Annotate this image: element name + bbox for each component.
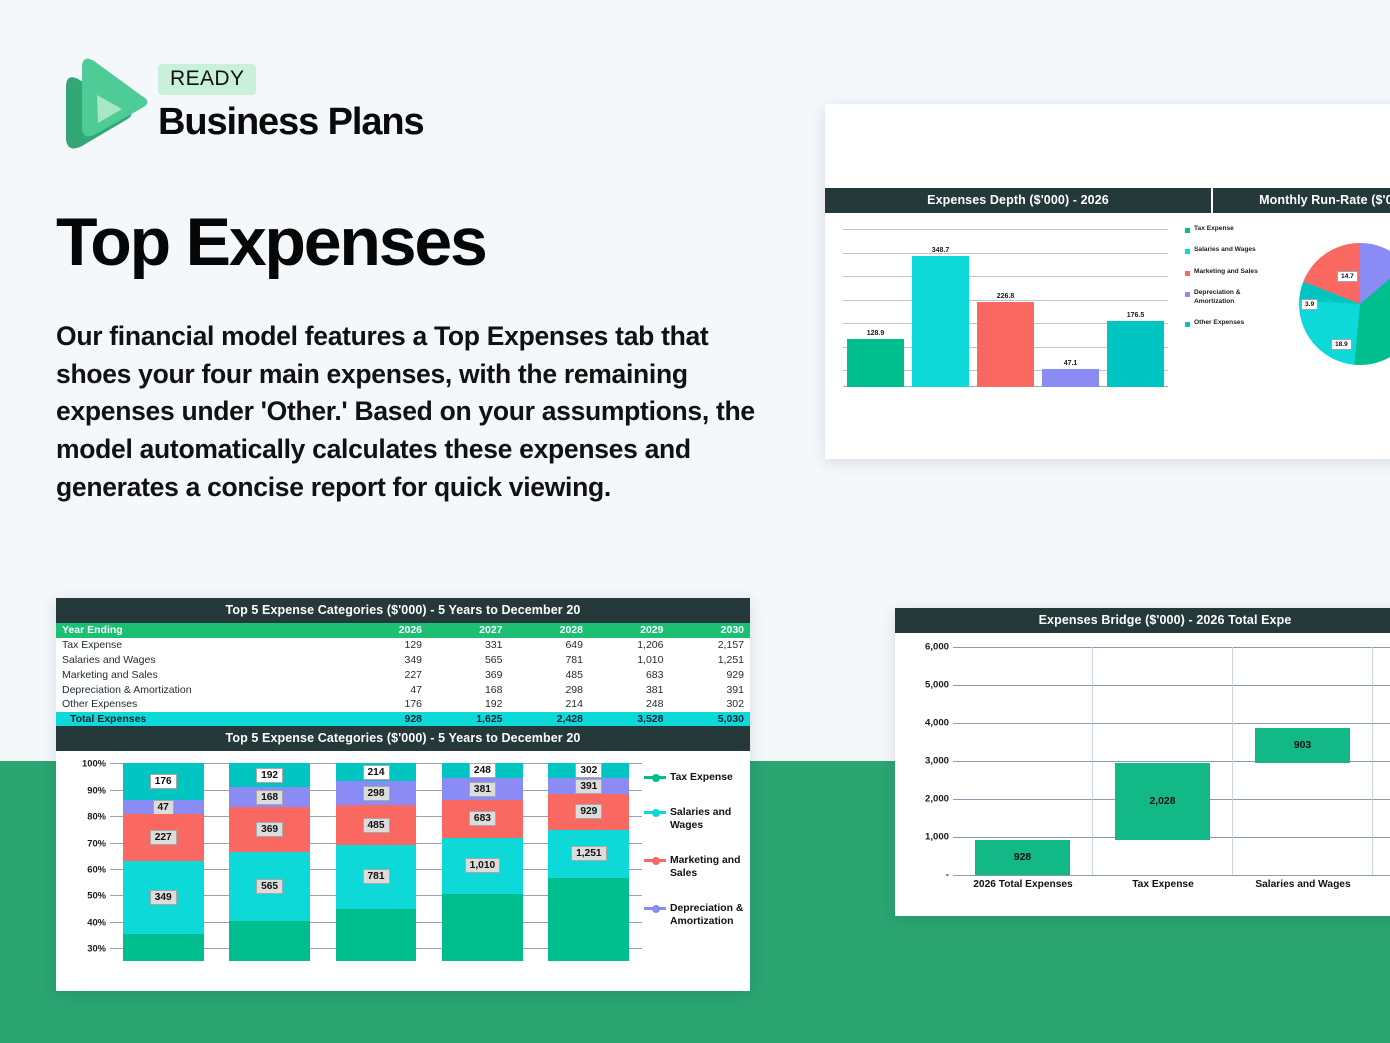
legend-line-marker-icon [644, 776, 666, 779]
top5-expense-table: Year Ending20262027202820292030 Tax Expe… [56, 623, 750, 726]
waterfall-value-label: 903 [1294, 740, 1311, 751]
expenses-depth-title: Expenses Depth ($'000) - 2026 [825, 188, 1211, 213]
table-cell: 176 [354, 697, 428, 712]
table-row: Other Expenses176192214248302 [56, 697, 750, 712]
y-axis-tick: 100% [82, 758, 106, 769]
stacked-column-inner: 2483816831,010 [442, 763, 523, 961]
stacked-column-inner: 192168369565 [229, 763, 310, 961]
stacked-column[interactable]: 17647227349 [110, 763, 216, 961]
segment-value-label: 565 [256, 879, 283, 894]
stacked-column-inner: 214298485781 [336, 763, 417, 961]
legend-label: Marketing and Sales [670, 854, 748, 880]
table-body: Tax Expense1293316491,2062,157Salaries a… [56, 638, 750, 727]
stacked-segment[interactable]: 227 [123, 814, 204, 862]
stacked-chart-y-axis: 100%90%80%70%60%50%40%30% [62, 763, 106, 961]
stacked-segment[interactable]: 683 [442, 800, 523, 838]
waterfall-columns: 9282,028903702 [953, 647, 1390, 875]
column-bar[interactable] [1042, 369, 1099, 387]
table-cell: 1,251 [669, 653, 750, 668]
pie-data-label: 18.9 [1331, 339, 1352, 350]
waterfall-column[interactable]: 928 [953, 647, 1093, 875]
legend-label: Marketing and Sales [1194, 268, 1258, 277]
waterfall-value-label: 2,028 [1149, 796, 1175, 807]
play-triangle-logo-icon [56, 54, 148, 154]
waterfall-column[interactable]: 2,028 [1093, 647, 1233, 875]
legend-swatch-icon [1185, 228, 1190, 233]
stacked-segment[interactable]: 369 [229, 807, 310, 852]
column-value-label: 348.7 [908, 247, 973, 254]
expenses-bridge-card: Expenses Bridge ($'000) - 2026 Total Exp… [895, 608, 1390, 916]
waterfall-x-label: Tax Expense [1093, 879, 1233, 890]
y-axis-tick: 5,000 [925, 680, 949, 691]
table-cell: 649 [509, 638, 589, 653]
y-axis-tick: 90% [87, 784, 106, 795]
page-title: Top Expenses [56, 203, 486, 281]
stacked-segment[interactable]: 381 [442, 778, 523, 799]
legend-item[interactable]: Other Expenses [1185, 319, 1277, 328]
ready-badge: READY [158, 64, 256, 95]
waterfall-bar[interactable]: 2,028 [1115, 763, 1210, 840]
stacked-segment[interactable] [442, 894, 523, 961]
y-axis-tick: 60% [87, 864, 106, 875]
stacked-chart-plot: 1764722734919216836956521429848578124838… [110, 763, 642, 961]
brand-logo[interactable]: READY Business Plans [56, 54, 424, 154]
legend-item[interactable]: Marketing and Sales [1185, 268, 1277, 277]
waterfall-x-labels: 2026 Total ExpensesTax ExpenseSalaries a… [953, 879, 1390, 890]
legend-swatch-icon [1185, 292, 1190, 297]
table-total-cell: 928 [354, 712, 428, 727]
table-total-cell: 2,428 [509, 712, 589, 727]
expenses-bridge-title: Expenses Bridge ($'000) - 2026 Total Exp… [895, 608, 1390, 633]
table-row-label: Depreciation & Amortization [56, 682, 354, 697]
segment-value-label: 227 [150, 830, 177, 845]
table-total-cell: 5,030 [669, 712, 750, 727]
table-cell: 349 [354, 653, 428, 668]
waterfall-plot: 9282,028903702 [953, 647, 1390, 875]
column-plot: 128.9348.7226.847.1176.5 [843, 237, 1168, 387]
table-total-cell: 3,528 [589, 712, 669, 727]
segment-value-label: 1,010 [465, 858, 501, 873]
segment-value-label: 781 [363, 869, 390, 884]
table-cell: 129 [354, 638, 428, 653]
table-column-header: 2030 [669, 623, 750, 638]
table-total-row: Total Expenses9281,6252,4283,5285,030 [56, 712, 750, 727]
top5-table-title: Top 5 Expense Categories ($'000) - 5 Yea… [56, 598, 750, 623]
table-cell: 1,206 [589, 638, 669, 653]
legend-label: Tax Expense [1194, 225, 1234, 234]
legend-label: Depreciation & Amortization [670, 902, 748, 928]
column-bar[interactable] [912, 256, 969, 387]
column-group[interactable]: 128.9 [843, 237, 908, 387]
table-cell: 565 [428, 653, 508, 668]
stacked-segment[interactable]: 248 [442, 763, 523, 778]
column-value-label: 226.8 [973, 293, 1038, 300]
legend-label: Salaries and Wages [1194, 246, 1256, 255]
legend-item[interactable]: Tax Expense [1185, 225, 1277, 234]
table-cell: 381 [589, 682, 669, 697]
legend-label: Depreciation & Amortization [1194, 289, 1277, 307]
stacked-segment[interactable]: 298 [336, 781, 417, 805]
column-value-label: 176.5 [1103, 312, 1168, 319]
column-value-label: 128.9 [843, 330, 908, 337]
stacked-column[interactable]: 192168369565 [216, 763, 322, 961]
table-cell: 192 [428, 697, 508, 712]
stacked-segment[interactable] [123, 934, 204, 961]
table-row-label: Tax Expense [56, 638, 354, 653]
monthly-runrate-pie-chart: 10.714.73.918.9 [1281, 221, 1390, 396]
topright-header-row: Expenses Depth ($'000) - 2026 Monthly Ru… [825, 188, 1390, 213]
stacked-column-inner: 3023919291,251 [548, 763, 629, 961]
table-cell: 683 [589, 667, 669, 682]
table-row: Depreciation & Amortization4716829838139… [56, 682, 750, 697]
legend-item[interactable]: Marketing and Sales [644, 854, 748, 880]
segment-value-label: 1,251 [571, 846, 607, 861]
table-row: Tax Expense1293316491,2062,157 [56, 638, 750, 653]
table-cell: 214 [509, 697, 589, 712]
stacked-column[interactable]: 2483816831,010 [429, 763, 535, 961]
y-axis-tick: 80% [87, 811, 106, 822]
page-description: Our financial model features a Top Expen… [56, 318, 756, 507]
segment-value-label: 683 [469, 811, 496, 826]
legend-swatch-icon [1185, 322, 1190, 327]
waterfall-column[interactable]: 903 [1233, 647, 1373, 875]
table-cell: 929 [669, 667, 750, 682]
table-row-header: Year Ending [56, 623, 354, 638]
segment-value-label: 176 [150, 774, 177, 789]
legend-swatch-icon [1185, 271, 1190, 276]
stacked-segment[interactable] [229, 921, 310, 961]
y-axis-tick: 40% [87, 916, 106, 927]
stacked-segment[interactable] [336, 909, 417, 962]
waterfall-x-label: Salaries and Wages [1233, 879, 1373, 890]
stacked-column-inner: 17647227349 [123, 763, 204, 961]
topright-body: 128.9348.7226.847.1176.5 Tax ExpenseSala… [825, 213, 1390, 398]
table-cell: 298 [509, 682, 589, 697]
column-bar[interactable] [1107, 321, 1164, 387]
table-cell: 485 [509, 667, 589, 682]
stacked-segment[interactable]: 565 [229, 852, 310, 921]
brand-name: Business Plans [158, 101, 424, 144]
legend-item[interactable]: Depreciation & Amortization [1185, 289, 1277, 307]
stacked-segment[interactable]: 781 [336, 845, 417, 909]
table-cell: 331 [428, 638, 508, 653]
column-group[interactable]: 176.5 [1103, 237, 1168, 387]
segment-value-label: 168 [256, 790, 283, 805]
segment-value-label: 302 [575, 763, 602, 778]
segment-value-label: 369 [256, 822, 283, 837]
table-cell: 248 [589, 697, 669, 712]
stacked-segment[interactable]: 349 [123, 861, 204, 934]
segment-value-label: 298 [363, 786, 390, 801]
y-axis-tick: 1,000 [925, 832, 949, 843]
segment-value-label: 214 [363, 765, 390, 780]
table-head: Year Ending20262027202820292030 [56, 623, 750, 638]
column-group[interactable]: 226.8 [973, 237, 1038, 387]
legend-label: Salaries and Wages [670, 806, 748, 832]
legend-item[interactable]: Salaries and Wages [644, 806, 748, 832]
grid-line [843, 229, 1168, 230]
waterfall-value-label: 928 [1014, 852, 1031, 863]
column-bar[interactable] [977, 302, 1034, 387]
waterfall-body: 6,0005,0004,0003,0002,0001,000- 9282,028… [895, 633, 1390, 915]
segment-value-label: 929 [575, 804, 602, 819]
table-row: Salaries and Wages3495657811,0101,251 [56, 653, 750, 668]
top5-expense-categories-card: Top 5 Expense Categories ($'000) - 5 Yea… [56, 598, 750, 991]
table-total-label: Total Expenses [56, 712, 354, 727]
grid-line [953, 875, 1390, 876]
stacked-segment[interactable]: 47 [123, 800, 204, 813]
slide-root: READY Business Plans Top Expenses Our fi… [0, 0, 1390, 1043]
top5-table-block: Year Ending20262027202820292030 Tax Expe… [56, 623, 750, 726]
segment-value-label: 47 [153, 800, 174, 815]
legend-item[interactable]: Depreciation & Amortization [644, 902, 748, 928]
table-cell: 168 [428, 682, 508, 697]
stacked-segment[interactable]: 168 [229, 787, 310, 807]
stacked-segment[interactable]: 929 [548, 794, 629, 830]
segment-value-label: 391 [575, 779, 602, 794]
legend-label: Other Expenses [1194, 319, 1244, 328]
table-row-label: Salaries and Wages [56, 653, 354, 668]
table-column-header: 2026 [354, 623, 428, 638]
legend-line-marker-icon [644, 859, 666, 862]
legend-label: Tax Expense [670, 771, 733, 784]
segment-value-label: 349 [150, 890, 177, 905]
table-cell: 781 [509, 653, 589, 668]
table-total-cell: 1,625 [428, 712, 508, 727]
y-axis-tick: 4,000 [925, 718, 949, 729]
y-axis-tick: 6,000 [925, 642, 949, 653]
segment-value-label: 381 [469, 782, 496, 797]
table-cell: 227 [354, 667, 428, 682]
waterfall-bar[interactable]: 928 [975, 840, 1070, 875]
table-row: Marketing and Sales227369485683929 [56, 667, 750, 682]
legend-line-marker-icon [644, 811, 666, 814]
stacked-chart-legend: Tax ExpenseSalaries and WagesMarketing a… [644, 771, 748, 950]
legend-line-marker-icon [644, 907, 666, 910]
top5-chart-title: Top 5 Expense Categories ($'000) - 5 Yea… [56, 726, 750, 751]
segment-value-label: 248 [469, 763, 496, 778]
column-value-label: 47.1 [1038, 360, 1103, 367]
stacked-segment[interactable]: 214 [336, 763, 417, 780]
stacked-segment[interactable]: 302 [548, 763, 629, 778]
table-cell: 391 [669, 682, 750, 697]
table-column-header: 2028 [509, 623, 589, 638]
expenses-depth-column-chart: 128.9348.7226.847.1176.5 [843, 221, 1168, 393]
waterfall-column[interactable]: 702 [1373, 647, 1390, 875]
column-group[interactable]: 348.7 [908, 237, 973, 387]
column-bar[interactable] [847, 339, 904, 387]
stacked-column[interactable]: 3023919291,251 [536, 763, 642, 961]
y-axis-tick: 30% [87, 943, 106, 954]
y-axis-tick: 70% [87, 837, 106, 848]
stacked-segment[interactable]: 176 [123, 763, 204, 800]
table-cell: 1,010 [589, 653, 669, 668]
y-axis-tick: - [946, 870, 949, 881]
legend-item[interactable]: Salaries and Wages [1185, 246, 1277, 255]
legend-item[interactable]: Tax Expense [644, 771, 748, 784]
stacked-column[interactable]: 214298485781 [323, 763, 429, 961]
stacked-segment[interactable]: 192 [229, 763, 310, 786]
stacked-segment[interactable]: 391 [548, 778, 629, 793]
table-cell: 47 [354, 682, 428, 697]
table-cell: 369 [428, 667, 508, 682]
stacked-segment[interactable] [548, 878, 629, 961]
waterfall-bar[interactable]: 903 [1255, 728, 1350, 762]
waterfall-y-axis: 6,0005,0004,0003,0002,0001,000- [899, 647, 949, 875]
expenses-depth-legend: Tax ExpenseSalaries and WagesMarketing a… [1185, 225, 1277, 340]
segment-value-label: 192 [256, 768, 283, 783]
stacked-columns: 1764722734919216836956521429848578124838… [110, 763, 642, 961]
y-axis-tick: 50% [87, 890, 106, 901]
pie-data-label: 14.7 [1337, 271, 1358, 282]
waterfall-x-label: Marketing and Sales [1373, 879, 1390, 890]
legend-swatch-icon [1185, 249, 1190, 254]
monthly-runrate-title: Monthly Run-Rate ($'000) - [1211, 188, 1390, 213]
table-column-header: 2027 [428, 623, 508, 638]
table-cell: 302 [669, 697, 750, 712]
table-row-label: Other Expenses [56, 697, 354, 712]
stacked-segment[interactable]: 1,010 [442, 838, 523, 894]
column-group[interactable]: 47.1 [1038, 237, 1103, 387]
table-cell: 2,157 [669, 638, 750, 653]
stacked-segment[interactable]: 1,251 [548, 830, 629, 878]
y-axis-tick: 3,000 [925, 756, 949, 767]
table-header-row: Year Ending20262027202820292030 [56, 623, 750, 638]
top5-stacked-chart: 100%90%80%70%60%50%40%30% 17647227349192… [56, 751, 750, 977]
stacked-segment[interactable]: 485 [336, 805, 417, 845]
table-column-header: 2029 [589, 623, 669, 638]
waterfall-x-label: 2026 Total Expenses [953, 879, 1093, 890]
y-axis-tick: 2,000 [925, 794, 949, 805]
pie-data-label: 3.9 [1301, 299, 1318, 310]
segment-value-label: 485 [363, 818, 390, 833]
table-row-label: Marketing and Sales [56, 667, 354, 682]
expenses-depth-card: Expenses Depth ($'000) - 2026 Monthly Ru… [825, 104, 1390, 459]
